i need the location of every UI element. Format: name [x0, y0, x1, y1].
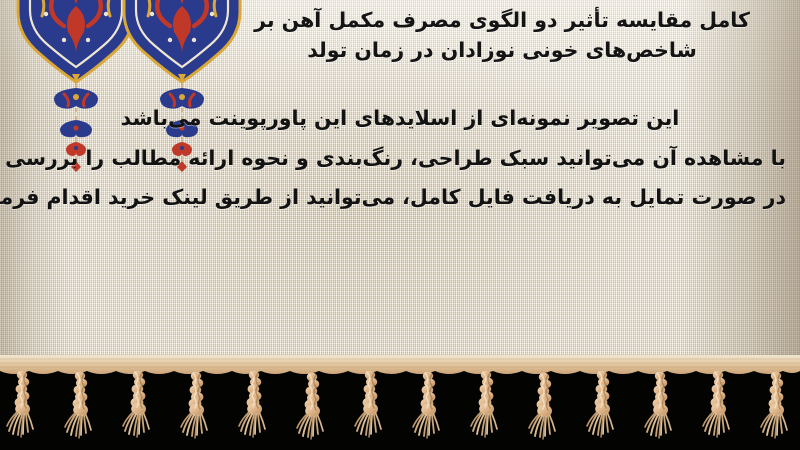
body-line-3: در صورت تمایل به دریافت فایل کامل، می‌تو… [14, 187, 786, 208]
body-line-2: با مشاهده آن می‌توانید سبک طراحی، رنگ‌بن… [14, 148, 786, 169]
slide-title-line-2: شاخص‌های خونی نوزادان در زمان تولد [222, 36, 782, 65]
carpet-fringe [0, 355, 800, 450]
slide-title: کامل مقایسه تأثیر دو الگوی مصرف مکمل آهن… [222, 6, 782, 65]
body-line-1: این تصویر نمونه‌ای از اسلایدهای این پاور… [14, 108, 786, 129]
slide-body: این تصویر نمونه‌ای از اسلایدهای این پاور… [14, 108, 786, 208]
slide-canvas: کامل مقایسه تأثیر دو الگوی مصرف مکمل آهن… [0, 0, 800, 450]
slide-title-line-1: کامل مقایسه تأثیر دو الگوی مصرف مکمل آهن… [222, 6, 782, 35]
